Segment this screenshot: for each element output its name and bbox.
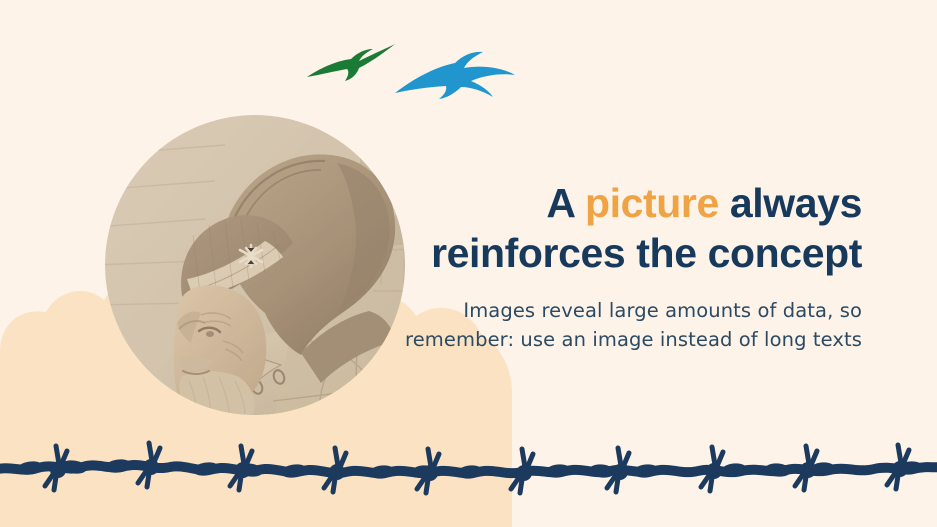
- page-subtitle: Images reveal large amounts of data, so …: [362, 296, 862, 354]
- headline-pre: A: [546, 180, 585, 226]
- headline-line-2: reinforces the concept: [362, 228, 862, 278]
- subtitle-line-2: remember: use an image instead of long t…: [362, 325, 862, 354]
- text-block: A picture always reinforces the concept …: [362, 178, 862, 354]
- headline-highlight: picture: [585, 180, 719, 226]
- barbed-wire-divider: [0, 432, 937, 502]
- birds-group: [295, 25, 535, 125]
- flying-bird-green-icon: [307, 44, 395, 81]
- portrait-illustration: [105, 115, 405, 415]
- headline-line-1: A picture always: [362, 178, 862, 228]
- portrait-photo: [105, 115, 405, 415]
- flying-bird-blue-icon: [395, 52, 515, 99]
- headline-post: always: [719, 180, 862, 226]
- page-title: A picture always reinforces the concept: [362, 178, 862, 278]
- slide-canvas: A picture always reinforces the concept …: [0, 0, 937, 527]
- subtitle-line-1: Images reveal large amounts of data, so: [362, 296, 862, 325]
